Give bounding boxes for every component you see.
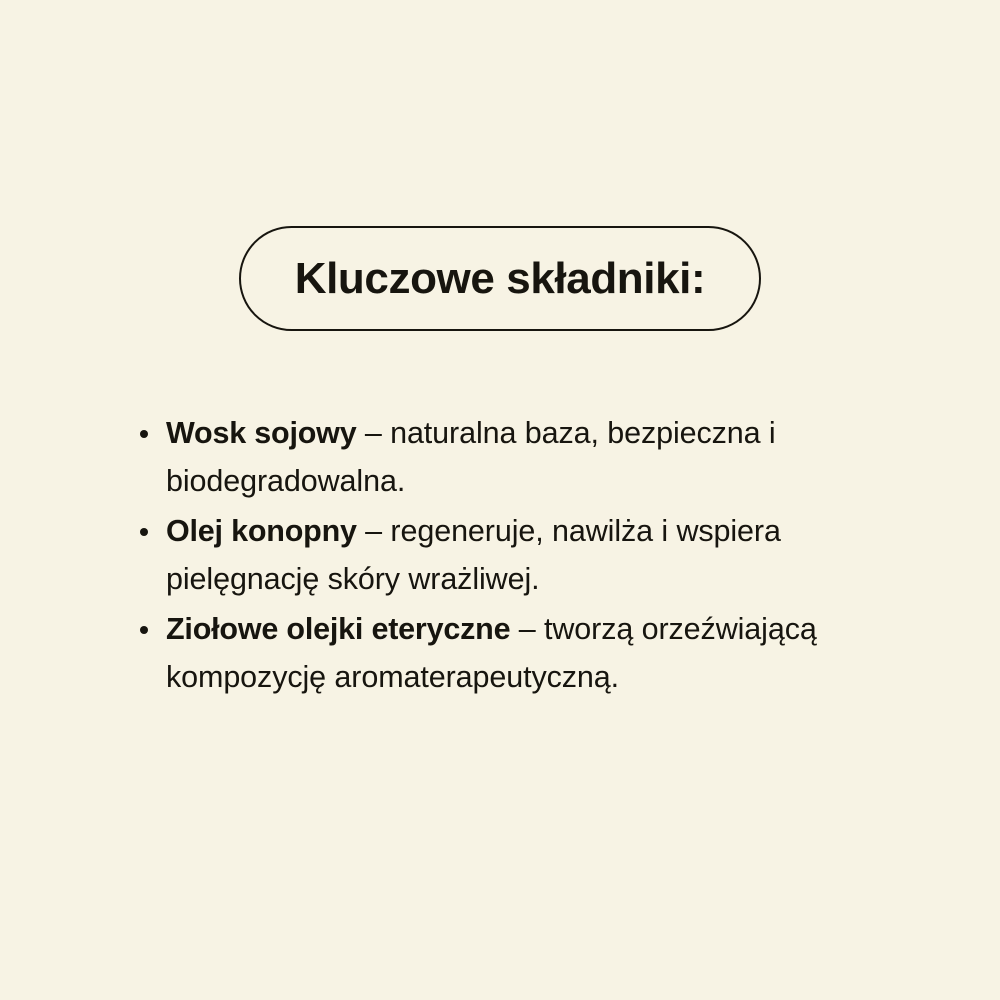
title-pill: Kluczowe składniki: <box>239 226 762 331</box>
ingredient-name: Ziołowe olejki eteryczne <box>166 612 510 646</box>
ingredient-separator: – <box>365 416 382 450</box>
ingredient-separator: – <box>519 612 536 646</box>
title-pill-container: Kluczowe składniki: <box>0 226 1000 331</box>
ingredient-name: Olej konopny <box>166 514 357 548</box>
slide-canvas: Kluczowe składniki: Wosk sojowy – natura… <box>0 0 1000 1000</box>
list-item: Olej konopny – regeneruje, nawilża i wsp… <box>137 507 907 603</box>
list-item: Wosk sojowy – naturalna baza, bezpieczna… <box>137 409 907 505</box>
ingredient-separator: – <box>365 514 382 548</box>
bullet-dot-icon <box>140 528 148 536</box>
ingredient-list: Wosk sojowy – naturalna baza, bezpieczna… <box>137 409 907 703</box>
ingredient-name: Wosk sojowy <box>166 416 356 450</box>
bullet-dot-icon <box>140 626 148 634</box>
page-title: Kluczowe składniki: <box>295 257 706 301</box>
list-item: Ziołowe olejki eteryczne – tworzą orzeźw… <box>137 605 907 701</box>
bullet-dot-icon <box>140 430 148 438</box>
